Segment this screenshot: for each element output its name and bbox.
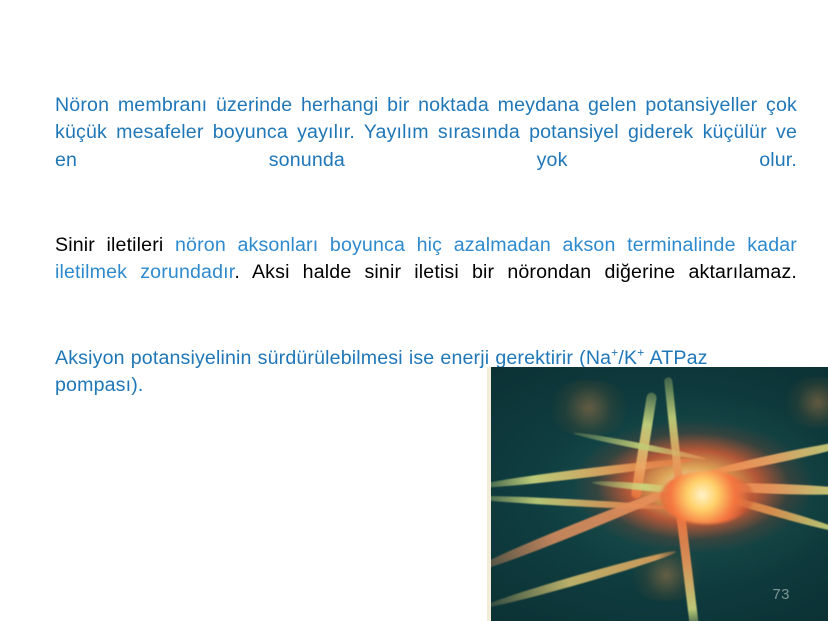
neuron-soma [660,471,754,524]
paragraph-1: Nöron membranı üzerinde herhangi bir nok… [55,92,797,202]
paragraph-2-tail: . Aksi halde sinir iletisi bir nörondan … [234,261,797,283]
paragraph-3-part-b: /K [618,347,637,369]
paragraph-2: Sinir iletileri nöron aksonları boyunca … [55,232,797,314]
paragraph-spacer-1 [55,202,797,232]
slide-canvas: Nöron membranı üzerinde herhangi bir nok… [0,0,828,621]
paragraph-3-part-a: Aksiyon potansiyelinin sürdürülebilmesi … [55,347,611,369]
slide-text-body: Nöron membranı üzerinde herhangi bir nok… [55,92,797,400]
neuron-art-background: 73 [491,367,828,621]
background-neuron-icon [781,377,828,428]
paragraph-2-lead: Sinir iletileri [55,234,175,256]
page-number: 73 [772,586,790,603]
background-neuron-icon [545,380,633,436]
paragraph-spacer-2 [55,314,797,345]
neuron-illustration: 73 [487,367,828,621]
potassium-plus-superscript: + [637,345,644,359]
